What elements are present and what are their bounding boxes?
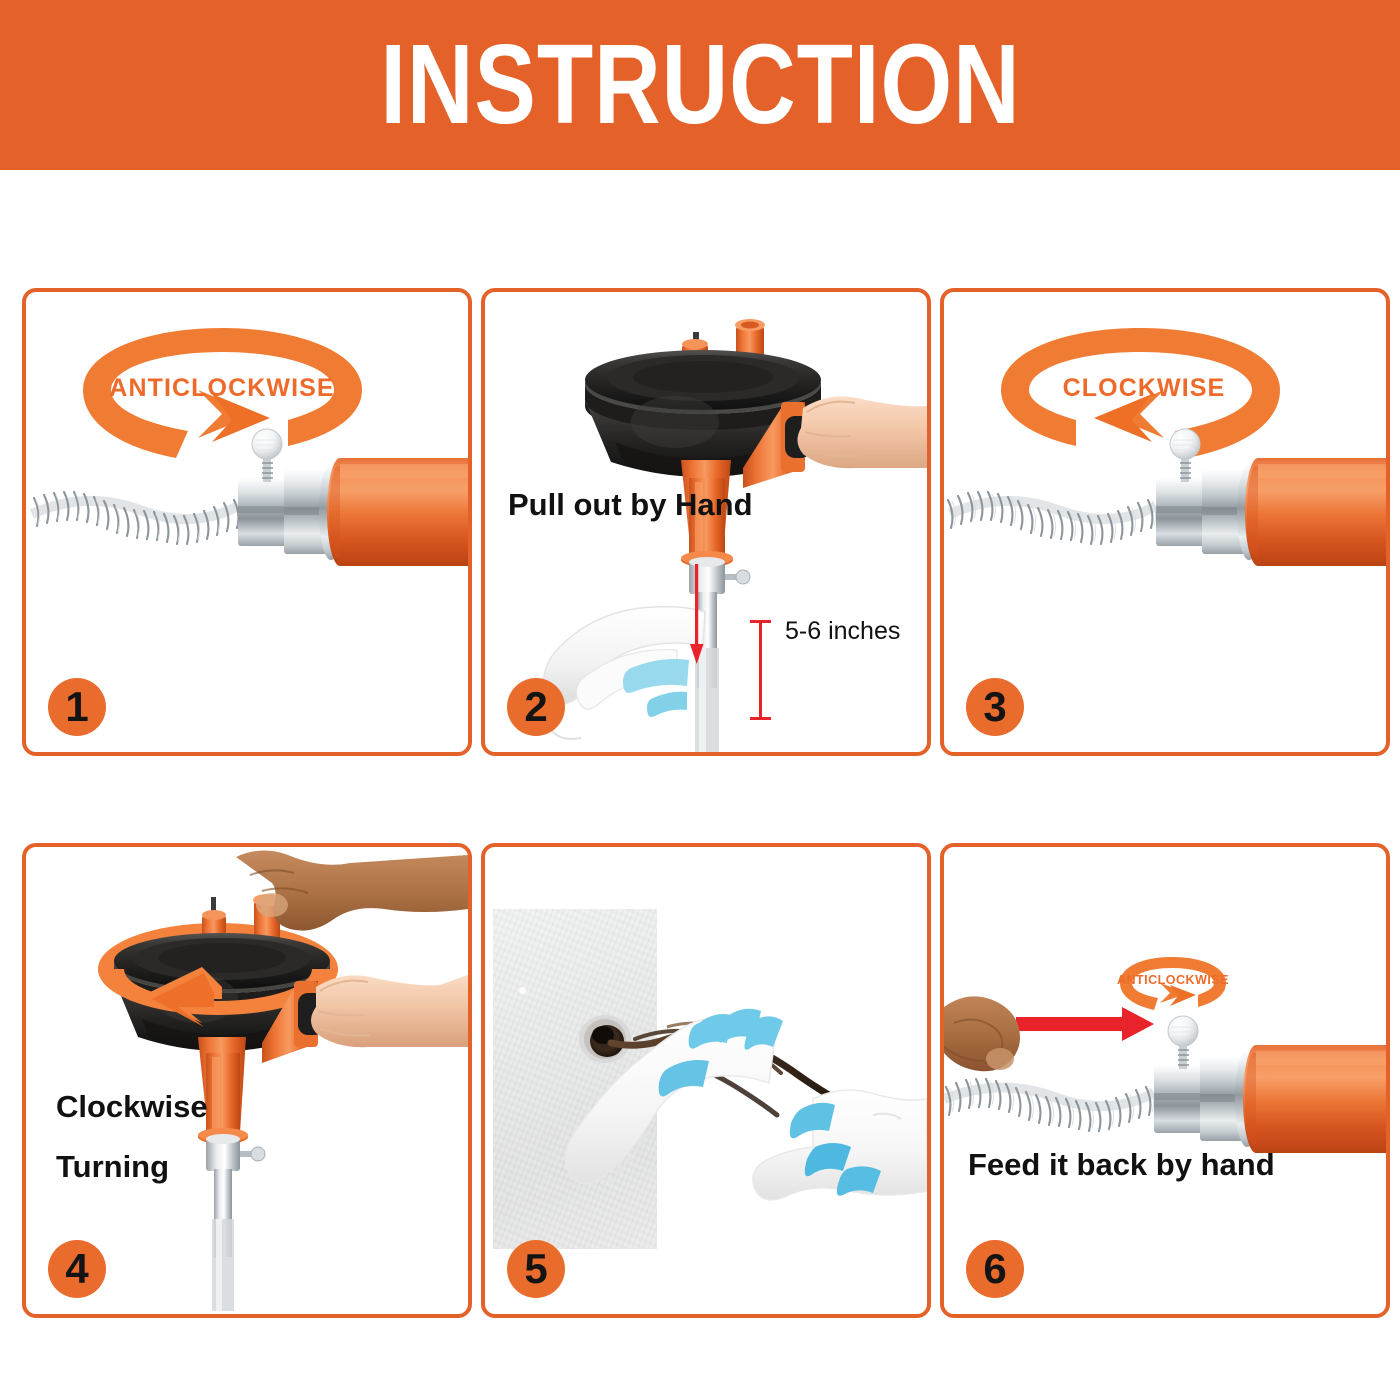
step-number-badge-3: 3 xyxy=(966,678,1024,736)
thumbscrew-6 xyxy=(1168,1016,1198,1069)
dimension-bracket-red xyxy=(750,620,771,720)
step-4-caption-line1: Clockwise xyxy=(56,1089,208,1125)
chuck-assembly-4 xyxy=(206,1134,265,1311)
chuck-assembly-1 xyxy=(238,458,353,566)
drain-tube-3 xyxy=(1258,458,1386,566)
step-panel-3: CLOCKWISE xyxy=(940,288,1390,756)
auger-cable-spring-6 xyxy=(944,1079,1154,1131)
gloved-hand-pulling xyxy=(543,607,705,739)
dimension-label-5-6-inches: 5-6 inches xyxy=(785,617,900,646)
instruction-sheet: INSTRUCTION xyxy=(0,0,1400,1400)
step-number-badge-4: 4 xyxy=(48,1240,106,1298)
step-4-caption-line2: Turning xyxy=(56,1149,169,1185)
drain-tube-6 xyxy=(1256,1045,1386,1153)
page-title: INSTRUCTION xyxy=(380,28,1020,141)
step-panel-5: 5 xyxy=(481,843,931,1318)
header-banner: INSTRUCTION xyxy=(0,0,1400,170)
step-number-badge-1: 1 xyxy=(48,678,106,736)
step-panel-4: Clockwise Turning 4 xyxy=(22,843,472,1318)
feed-direction-arrow-red xyxy=(1016,1007,1154,1041)
hand-on-handle xyxy=(797,396,927,468)
rotation-direction-label-1: ANTICLOCKWISE xyxy=(109,374,334,402)
rotation-direction-label-3: CLOCKWISE xyxy=(1063,374,1226,402)
step-panel-2: Pull out by Hand 5-6 inches 2 xyxy=(481,288,931,756)
hand-on-handle-4 xyxy=(311,975,468,1047)
step-2-caption: Pull out by Hand xyxy=(508,487,753,523)
thumbscrew-1 xyxy=(252,429,282,482)
gloved-hand-far xyxy=(753,1090,927,1200)
drain-hole xyxy=(579,1015,631,1063)
chuck-assembly-3 xyxy=(1156,458,1271,566)
step-6-caption: Feed it back by hand xyxy=(968,1147,1275,1183)
step-panel-1: ANTICLOCKWISE xyxy=(22,288,472,756)
chuck-assembly-6 xyxy=(1154,1045,1269,1153)
rotation-direction-label-6: ANTICLOCKWISE xyxy=(1117,973,1229,987)
step-number-badge-6: 6 xyxy=(966,1240,1024,1298)
drain-tube-1 xyxy=(340,458,468,566)
auger-cable-spring-3 xyxy=(948,492,1156,544)
hand-feeding-cable xyxy=(944,996,1020,1071)
steps-grid: ANTICLOCKWISE xyxy=(22,288,1390,1318)
step-number-badge-5: 5 xyxy=(507,1240,565,1298)
step-panel-6: ANTICLOCKWISE xyxy=(940,843,1390,1318)
step-number-badge-2: 2 xyxy=(507,678,565,736)
